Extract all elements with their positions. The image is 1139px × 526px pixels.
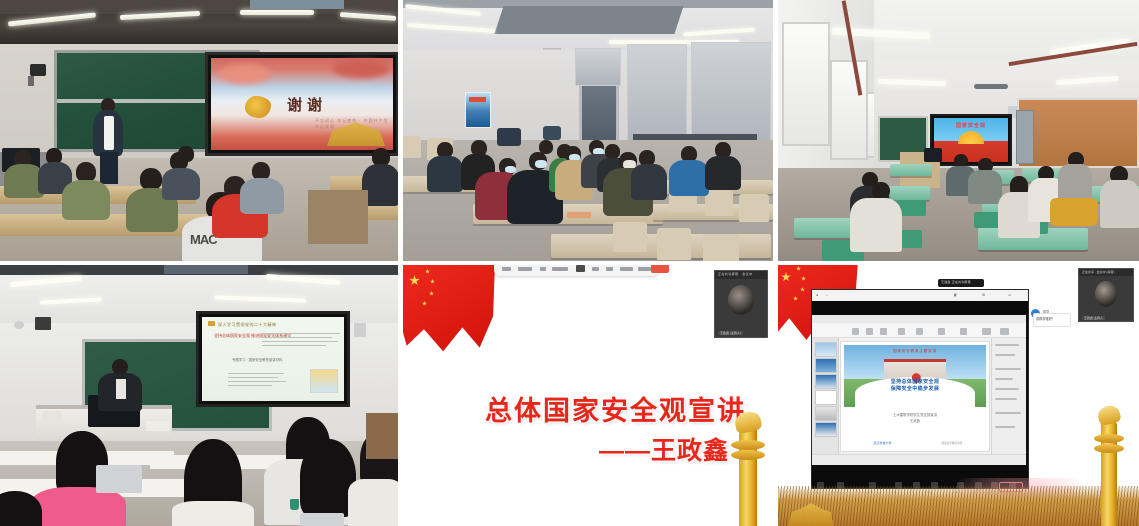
thumbnail-header-label: 正在共享屏幕 · 会议中 [718,272,752,276]
participant-thumbnail[interactable]: 正在共享屏幕 · 会议中 王政鑫 (主持人) [714,270,768,338]
student-head [605,144,620,159]
slide-image [310,369,338,393]
end-meeting-button[interactable] [651,265,669,273]
presenter-shirt [104,116,114,150]
window-blind [627,44,687,146]
university-logo-label: 武汉科技大学 [874,441,892,445]
flag-star [425,269,430,274]
chat-message: 讲得非常好！ [1036,316,1055,321]
shared-powerpoint: 国家安全教育主题宣讲 坚持总体国家安全观 保障安全中稳步发展 土木建筑学院学生党… [812,315,1026,465]
speaker-box [30,64,46,76]
window [830,60,868,160]
ppt-format-panel[interactable] [991,338,1026,455]
wooden-panel [366,413,398,459]
chair [657,228,691,260]
sharing-banner: 王政鑫 正在共享屏幕 [938,279,984,287]
presenter-legs [100,152,118,184]
ceiling-panel [250,0,344,9]
student-body [1100,180,1139,228]
camera [14,321,24,329]
flag-star [409,275,420,286]
slide-surface: 谢谢 不忘初心 牢记使命 · 中国共产党永远年轻 [211,58,393,150]
sunrise-icon [958,131,984,144]
ppt-statusbar [812,454,1026,465]
panel-online-meeting-title-slide: 正在共享屏幕 · 会议中 王政鑫 (主持人) 总体国家安全观宣讲 ——王政鑫 [403,265,773,526]
student-body [968,170,1002,204]
participant-video [1095,281,1117,307]
wall-poster [465,92,491,128]
projector-screen: 深入学习贯彻党的二十大精神 坚持总体国家安全观 推进国家安全体系建设 专题学习 … [196,311,350,407]
flag-star [796,266,801,271]
slide-surface: 国家安全观 [934,118,1008,162]
chair [739,194,769,222]
desk [890,164,932,176]
slide-photo: 国家安全教育主题宣讲 坚持总体国家安全观 保障安全中稳步发展 [844,345,986,407]
flag-star [801,276,806,281]
huabiao-column-icon [1083,402,1135,526]
desk-items [42,411,62,421]
panel-lecture-hall-thank-you: 谢谢 不忘初心 牢记使命 · 中国共产党永远年轻 MAC [0,0,398,261]
participant-video [728,285,754,315]
slide-title: 坚持总体国家安全观 保障安全中稳步发展 [844,379,986,393]
national-flag-icon [403,265,495,355]
floor-step [308,190,368,244]
window [782,22,830,146]
window-blind [575,48,621,86]
ppt-slide-stage: 国家安全教育主题宣讲 坚持总体国家安全观 保障安全中稳步发展 土木建筑学院学生党… [840,341,990,452]
panel-classroom-presentation: 深入学习贯彻党的二十大精神 坚持总体国家安全观 推进国家安全体系建设 专题学习 … [0,265,398,526]
student-body [62,180,110,220]
meeting-window-titlebar: ● ⌂ ◧ ⚙ ▭ [812,290,1028,301]
student-body [631,164,667,200]
projector-screen: 国家安全观 [930,114,1012,166]
participant-thumbnail[interactable]: 正在共享 · 会议中 (静音) 王政鑫 主持人 [1078,268,1134,322]
panel-online-meeting-screen-share: 王政鑫 正在共享屏幕 ● ⌂ ◧ ⚙ ▭ [778,265,1139,526]
presenter-shirt [116,379,126,399]
photo-collage: 谢谢 不忘初心 牢记使命 · 中国共产党永远年轻 MAC [0,0,1139,526]
wall-speaker [35,317,51,330]
thumbnail-name-label: 王政鑫 主持人 [1082,316,1105,320]
backpack [497,128,521,146]
backpack [1050,198,1098,226]
ceiling-fan [974,84,1008,89]
chair [403,136,421,158]
chair [703,234,739,261]
slide-header: 深入学习贯彻党的二十大精神 [218,322,277,328]
student-body [162,168,200,200]
thumbnail-header-label: 正在共享 · 会议中 (静音) [1082,270,1115,274]
party-emblem-icon [245,96,271,118]
student-head [539,140,553,154]
ceiling-beam [494,6,683,34]
slide-title: 国家安全观 [934,122,1008,129]
window-blind [691,42,771,148]
slide-title: 谢谢 [287,94,327,115]
student-head [140,168,162,190]
backpack [543,126,561,140]
slide-accent [208,321,215,326]
paper-on-desk [567,212,591,218]
student-body [427,156,463,192]
student-body [669,160,709,196]
wall-fixture [354,323,366,337]
cup [290,499,299,510]
ceiling-panel [164,265,248,274]
student-body [705,156,741,190]
slide-header: 国家安全教育主题宣讲 [844,349,986,354]
ceiling-light [240,10,314,15]
ppt-slide-panel[interactable] [812,338,839,455]
flag-star [781,272,791,282]
laptop [300,513,344,526]
slide-presenter: ——王政鑫 [599,431,729,467]
slide-subtitle: 土木建筑学院学生党支部宣讲 王政鑫 [841,412,989,424]
huabiao-column-icon [717,410,773,526]
classroom-door [1016,110,1034,164]
slide-body: 专题学习 · 国家安全教育宣讲材料 [232,357,282,362]
desk-items [146,421,170,431]
speaker-mount [28,76,34,86]
student-body [348,479,398,526]
face-mask [535,160,547,168]
slide-subtitle-line2: 王政鑫 [841,418,989,424]
chair [705,190,733,216]
ppt-ribbon[interactable] [812,323,1026,338]
student-body-white [850,198,902,252]
panel-bright-classroom: 国家安全观 [778,0,1139,261]
chair [613,222,647,252]
slide-main-title: 总体国家安全观宣讲 [485,389,746,428]
slide-title-line1: 坚持总体国家安全观 [844,379,986,386]
slide-title-line2: 保障安全中稳步发展 [844,386,986,393]
student-head [178,146,194,162]
podium-monitor [924,148,942,162]
sharing-banner-label: 王政鑫 正在共享屏幕 [941,280,971,284]
thumbnail-name-label: 王政鑫 (主持人) [718,331,743,335]
flag-star [793,296,798,301]
flag-star [800,287,805,292]
student-body [240,178,284,214]
student-head [76,162,96,182]
student-body [172,501,254,526]
meeting-window: ● ⌂ ◧ ⚙ ▭ [811,289,1029,489]
flag-star [429,291,434,296]
flag-star [430,279,435,284]
flag-star [422,301,427,306]
share-letterbox-top [812,301,1028,315]
slide-surface: 深入学习贯彻党的二十大精神 坚持总体国家安全观 推进国家安全体系建设 专题学习 … [202,317,344,401]
meeting-toolbar[interactable] [494,265,659,276]
panel-classroom-seated-students [403,0,773,261]
projector-screen: 谢谢 不忘初心 牢记使命 · 中国共产党永远年轻 [205,52,398,156]
campaign-logo-label: 国家安全教育宣传 [942,441,963,445]
laptop [96,465,142,493]
